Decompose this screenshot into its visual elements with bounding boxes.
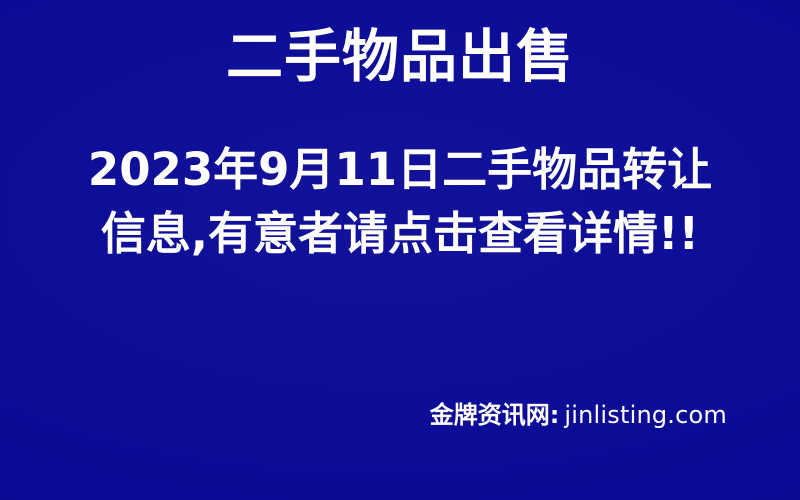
site-url-link[interactable]: jinlisting.com [564, 401, 727, 429]
banner-content: 二手物品出售 2023年9月11日二手物品转让 信息,有意者请点击查看详情!! … [0, 0, 800, 500]
site-separator: : [550, 401, 565, 429]
promo-banner: 二手物品出售 2023年9月11日二手物品转让 信息,有意者请点击查看详情!! … [0, 0, 800, 500]
site-attribution: 金牌资讯网:jinlisting.com [430, 400, 727, 430]
body-line-2: 信息,有意者请点击查看详情!! [0, 202, 800, 266]
body-line-1: 2023年9月11日二手物品转让 [0, 138, 800, 202]
footer-block: 金牌资讯网:jinlisting.com [0, 400, 800, 430]
site-name-label: 金牌资讯网 [430, 401, 550, 429]
body-text-block: 2023年9月11日二手物品转让 信息,有意者请点击查看详情!! [0, 138, 800, 266]
page-title: 二手物品出售 [0, 24, 800, 91]
title-block: 二手物品出售 [0, 24, 800, 91]
